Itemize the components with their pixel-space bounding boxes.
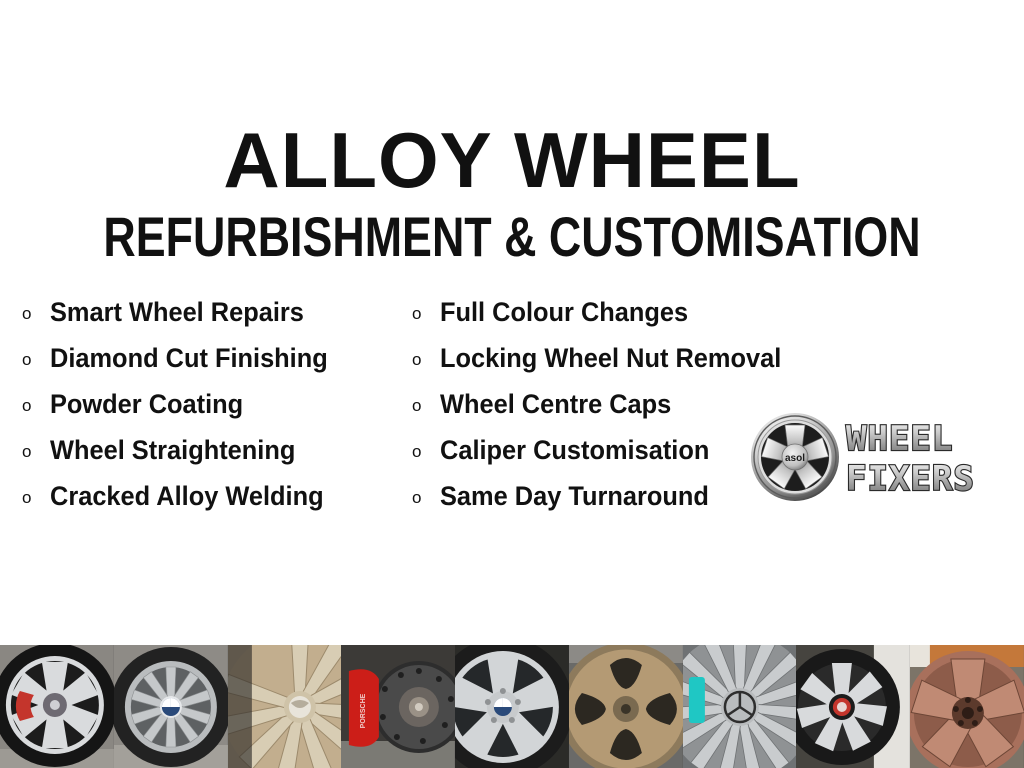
wordmark-line-1: WHEEL [846, 419, 953, 459]
wheel-photo [796, 645, 910, 768]
wheel-photo [683, 645, 797, 768]
list-item: o Locking Wheel Nut Removal [412, 343, 762, 389]
bullet-circle-icon: o [22, 351, 50, 368]
list-item: o Wheel Straightening [22, 435, 402, 481]
list-item: o Smart Wheel Repairs [22, 297, 402, 343]
list-item: o Wheel Centre Caps [412, 389, 762, 435]
wheel-photo-strip: PORSCHE [0, 645, 1024, 768]
list-item-label: Cracked Alloy Welding [50, 481, 324, 511]
list-item: o Powder Coating [22, 389, 402, 435]
wheel-photo [228, 645, 342, 768]
bullet-circle-icon: o [22, 397, 50, 414]
list-item-label: Locking Wheel Nut Removal [440, 343, 781, 373]
wheel-photo [0, 645, 114, 768]
bullet-circle-icon: o [412, 305, 440, 322]
wheel-photo: PORSCHE [341, 645, 455, 768]
wheel-centre-cap-text: asol [785, 453, 805, 464]
wheel-photo [569, 645, 683, 768]
heading-block: ALLOY WHEEL REFURBISHMENT & CUSTOMISATIO… [0, 118, 1024, 268]
list-item-label: Full Colour Changes [440, 297, 688, 327]
list-item-label: Diamond Cut Finishing [50, 343, 328, 373]
list-item: o Full Colour Changes [412, 297, 762, 343]
wheel-photo [455, 645, 569, 768]
brand-wordmark: WHEEL FIXERS [844, 416, 1012, 498]
list-item: o Cracked Alloy Welding [22, 481, 402, 527]
list-item-label: Smart Wheel Repairs [50, 297, 304, 327]
page-subtitle: REFURBISHMENT & CUSTOMISATION [102, 206, 921, 268]
bullet-circle-icon: o [412, 489, 440, 506]
list-item-label: Caliper Customisation [440, 435, 709, 465]
services-right-column: o Full Colour Changes o Locking Wheel Nu… [412, 297, 762, 527]
bullet-circle-icon: o [412, 351, 440, 368]
list-item: o Same Day Turnaround [412, 481, 762, 527]
bullet-circle-icon: o [22, 305, 50, 322]
wheel-photo [910, 645, 1024, 768]
list-item-label: Wheel Centre Caps [440, 389, 671, 419]
svg-text:PORSCHE: PORSCHE [360, 693, 367, 728]
bullet-circle-icon: o [412, 443, 440, 460]
bullet-circle-icon: o [22, 443, 50, 460]
list-item: o Diamond Cut Finishing [22, 343, 402, 389]
bullet-circle-icon: o [22, 489, 50, 506]
services-left-column: o Smart Wheel Repairs o Diamond Cut Fini… [22, 297, 402, 527]
wordmark-line-2: FIXERS [846, 459, 975, 498]
list-item-label: Powder Coating [50, 389, 243, 419]
list-item-label: Same Day Turnaround [440, 481, 709, 511]
list-item: o Caliper Customisation [412, 435, 762, 481]
page-title: ALLOY WHEEL [0, 118, 1024, 202]
brand-logo: asol WHEEL FIXERS [750, 412, 1012, 504]
alloy-wheel-icon: asol [750, 412, 840, 502]
wheel-photo [114, 645, 228, 768]
bullet-circle-icon: o [412, 397, 440, 414]
list-item-label: Wheel Straightening [50, 435, 295, 465]
